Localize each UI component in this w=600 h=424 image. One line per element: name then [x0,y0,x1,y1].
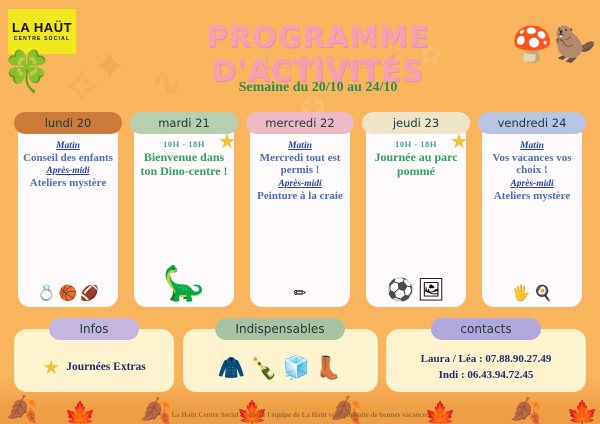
rain-boots-icon: 👢 [315,357,342,379]
day-icons: ✏ [294,286,307,303]
chef-hat-icon: 🍳 [534,286,553,301]
day-card-jeudi: jeudi 23 ★ 10H - 18H Journée au parc pom… [362,112,470,307]
activity-text: Conseil des enfants [23,152,113,164]
hedgehogs-mushroom-icon: 🍄🦫 [511,28,596,62]
photos-icon: 🖼 [417,279,445,301]
indispensables-header: Indispensables [215,318,345,340]
activity-text: Ateliers mystère [494,190,570,202]
slot-label: Après-midi [46,166,89,176]
day-cards-row: lundi 20 Matin Conseil des enfants Après… [14,112,586,307]
poster-canvas: ✦ ✧ ∿ ▵ ✪ ✿ LA HAÜT CENTRE SOCIAL 🍀 🍄🦫 P… [0,0,600,424]
hours-label: 10H - 18H [163,139,205,149]
star-icon: ★ [450,132,468,152]
raincoat-icon: 🧥 [218,357,245,379]
indispensables-box: Indispensables 🧥 🍾 🧊 👢 [183,318,378,398]
day-header-mercredi: mercredi 22 [246,112,354,134]
gear-icon-list: 🧥 🍾 🧊 👢 [218,357,343,379]
day-card-lundi: lundi 20 Matin Conseil des enfants Après… [14,112,122,307]
hours-label: 10H - 18H [395,139,437,149]
day-icons: ⚽ 🖼 [387,279,445,303]
water-bottle-icon: 🍾 [250,357,277,379]
activity-text: Mercredi tout est permis ! [254,152,346,177]
rugby-ball-icon: 🏈 [80,286,99,301]
handprints-icon: 🖐 [512,286,531,301]
dinosaur-icon: 🦕 [163,267,205,301]
contacts-header: contacts [431,318,541,340]
day-body-vendredi: Matin Vos vacances vos choix ! Après-mid… [482,123,582,307]
bottom-boxes-row: Infos ★ Journées Extras Indispensables 🧥… [14,318,586,398]
slot-label: Matin [520,141,544,151]
balls-icon: 🏀 [59,286,78,301]
day-header-lundi: lundi 20 [14,112,122,134]
infos-box: Infos ★ Journées Extras [14,318,174,398]
infos-text: Journées Extras [66,361,146,374]
day-icons: 🦕 [163,267,205,303]
star-icon: ★ [218,132,236,152]
page-subtitle: Les 6/12 ans [118,54,518,74]
leaf-icon: 🍂 [330,397,362,423]
acorns-icon: 🍀 [2,52,52,92]
activity-text: Ateliers mystère [30,177,106,189]
day-body-lundi: Matin Conseil des enfants Après-midi Ate… [18,123,118,307]
activity-text: Peinture à la craie [257,190,343,202]
day-card-vendredi: vendredi 24 Matin Vos vacances vos choix… [478,112,586,307]
day-card-mardi: mardi 21 ★ 10H - 18H Bienvenue dans ton … [130,112,238,307]
week-label: Semaine du 20/10 au 24/10 [118,80,518,96]
contacts-box: contacts Laura / Léa : 07.88.90.27.49 In… [386,318,586,398]
logo-subtitle: CENTRE SOCIAL [14,37,70,42]
chalk-icon: ✏ [294,286,307,301]
day-icons: 🖐 🍳 [512,286,552,303]
star-icon: ★ [42,358,60,378]
cooler-icon: 🧊 [283,357,310,379]
contact-line-2: Indi : 06.43.94.72.45 [439,368,534,383]
day-card-mercredi: mercredi 22 Matin Mercredi tout est perm… [246,112,354,307]
day-body-mercredi: Matin Mercredi tout est permis ! Après-m… [250,123,350,307]
bracelet-icon: 💍 [37,286,56,301]
slot-label: Après-midi [278,179,321,189]
doodle-scribble-2: ✧ [60,58,104,118]
activity-text: Vos vacances vos choix ! [486,152,578,177]
logo: LA HAÜT CENTRE SOCIAL [8,9,76,54]
activity-text: Journée au parc pommé [370,151,462,179]
slot-label: Matin [56,141,80,151]
soccer-ball-icon: ⚽ [387,279,414,301]
infos-header: Infos [49,318,139,340]
slot-label: Matin [288,141,312,151]
day-header-vendredi: vendredi 24 [478,112,586,134]
footer-text: La Haüt Centre Social — Toute l'équipe d… [0,411,600,419]
logo-title: LA HAÜT [12,21,72,34]
activity-text: Bienvenue dans ton Dino-centre ! [138,151,230,179]
contact-line-1: Laura / Léa : 07.88.90.27.49 [421,352,552,367]
day-icons: 💍 🏀 🏈 [37,286,99,303]
slot-label: Après-midi [510,179,553,189]
